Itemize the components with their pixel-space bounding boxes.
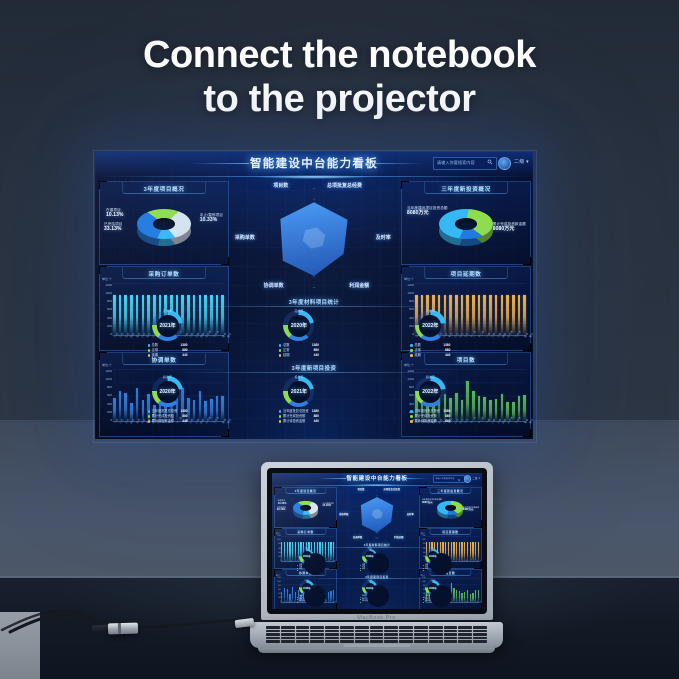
x-tick: 累计 xyxy=(480,601,482,607)
panel-donut_right[interactable]: 三年度新投资概况当年度建设项目投资总额8080万元累计完成投资款金额8080万元 xyxy=(419,487,482,528)
legend-row: 延期440 xyxy=(410,353,450,358)
legend-row: 累计待投资金额440 xyxy=(410,419,450,424)
y-tick: 400 xyxy=(278,553,280,554)
gauges-bottom-title-rule xyxy=(174,372,454,373)
legend-dot xyxy=(410,354,413,357)
y-tick: 1000 xyxy=(105,291,112,295)
legend-name: 累计待投资金额 xyxy=(414,419,445,424)
dashboard-title: 智能建设中台能力看板 xyxy=(250,155,378,171)
y-tick: 600 xyxy=(278,549,280,550)
key[interactable] xyxy=(473,626,487,629)
x-tick: 累计 xyxy=(480,560,482,566)
key[interactable] xyxy=(429,637,443,640)
legend-value: 440 xyxy=(314,353,319,358)
gauges-top-title-rule xyxy=(310,547,444,548)
panel-donut_left-label: 已完结项目33.13% xyxy=(104,222,122,231)
key[interactable] xyxy=(429,630,443,633)
headline-line-1: Connect the notebook xyxy=(0,33,679,77)
gauges-bottom-title: 3年度新项目投资 xyxy=(95,364,533,372)
laptop-screen[interactable]: 智能建设中台能力看板请输入你要搜索内容⚲二级 ▾3年度项目概况在建项目10.13… xyxy=(272,473,482,609)
key[interactable] xyxy=(340,637,354,640)
gauges-top-ring: 2020年完成率 xyxy=(362,549,377,564)
key[interactable] xyxy=(370,626,384,629)
x-tick: 全年 xyxy=(477,560,482,566)
gauges-top-legend: 总数1380正常880延期440 xyxy=(410,343,450,358)
legend-value: 440 xyxy=(314,419,319,424)
gauge-year: 2022年 xyxy=(415,310,446,341)
key[interactable] xyxy=(458,637,472,640)
key[interactable] xyxy=(384,626,398,629)
radar-axis-label: 采购单数 xyxy=(339,512,349,516)
legend-name: 累计待投资金额 xyxy=(283,419,314,424)
key[interactable] xyxy=(414,633,428,636)
key[interactable] xyxy=(310,630,324,633)
y-tick: 200 xyxy=(107,324,112,328)
gauge-year: 2020年 xyxy=(299,580,314,595)
legend-dot xyxy=(410,410,413,413)
label-value: 10.13% xyxy=(106,213,124,218)
radar-axis-label: 总项批复总经费 xyxy=(327,182,362,189)
key[interactable] xyxy=(325,637,339,640)
panel-donut_right-label: 当年度建设项目投资总额8080万元 xyxy=(422,499,442,503)
panel-donut_left[interactable]: 3年度项目概况在建项目10.13%已完结项目33.13%中止/暂停项目10.33… xyxy=(99,181,229,265)
panel-donut_left-donut-hole xyxy=(153,218,175,230)
y-tick: 0 xyxy=(110,332,112,336)
usb-c-adapter xyxy=(108,623,138,635)
key[interactable] xyxy=(340,640,354,643)
gauge-year: 2021年 xyxy=(283,376,314,407)
y-tick: 1000 xyxy=(407,291,414,295)
legend-dot xyxy=(279,415,282,418)
key[interactable] xyxy=(414,640,428,643)
key[interactable] xyxy=(444,626,458,629)
legend-name: 延期 xyxy=(152,353,183,358)
key[interactable] xyxy=(355,626,369,629)
gauges-bottom-legend: 当年度批复总投资1380累计完成投资额880累计待投资金额440 xyxy=(279,409,319,424)
gauges-bottom-gauge[interactable]: 2022年投资率当年度批复总投资1380累计完成投资额880累计待投资金额440 xyxy=(410,376,450,424)
search-input[interactable]: 请输入你要搜索内容⚲ xyxy=(433,475,465,482)
key[interactable] xyxy=(355,640,369,643)
y-tick: 1200 xyxy=(277,536,280,537)
title-glow xyxy=(254,175,374,179)
legend-dot xyxy=(410,415,413,418)
gauge-year: 2022年 xyxy=(415,376,446,407)
dashboard-projected: 智能建设中台能力看板请输入你要搜索内容⚲二级 ▾3年度项目概况在建项目10.13… xyxy=(95,152,533,439)
key[interactable] xyxy=(414,637,428,640)
axis-unit: 单位:个 xyxy=(102,277,112,281)
panel-donut_left-donut xyxy=(137,209,191,243)
gauges-bottom-ring: 2021年投资率 xyxy=(362,580,377,595)
legend-row: 延期440 xyxy=(148,353,188,358)
y-tick: 1200 xyxy=(105,283,112,287)
key[interactable] xyxy=(325,626,339,629)
key[interactable] xyxy=(399,630,413,633)
key[interactable] xyxy=(473,630,487,633)
radar-axis-label: 项目数 xyxy=(273,182,288,189)
key[interactable] xyxy=(429,640,443,643)
y-tick: 200 xyxy=(278,557,280,558)
key[interactable] xyxy=(325,633,339,636)
key[interactable] xyxy=(325,640,339,643)
gauges-bottom-legend: 当年度批复总投资1380累计完成投资额880累计待投资金额440 xyxy=(148,409,188,424)
projected-screen: 智能建设中台能力看板请输入你要搜索内容⚲二级 ▾3年度项目概况在建项目10.13… xyxy=(95,152,533,439)
panel-title: 3年度项目概况 xyxy=(100,185,228,193)
key[interactable] xyxy=(384,633,398,636)
key[interactable] xyxy=(399,633,413,636)
radar-axis-label: 协调单数 xyxy=(264,282,284,289)
panel-title: 3年度项目概况 xyxy=(275,489,336,493)
gauges-top-legend: 总数1380正常880延期440 xyxy=(148,343,188,358)
key[interactable] xyxy=(310,633,324,636)
key[interactable] xyxy=(429,626,443,629)
y-tick: 400 xyxy=(107,316,112,320)
radar-axis-label: 及时率 xyxy=(376,234,391,241)
y-tick: 0 xyxy=(110,418,112,422)
legend-dot xyxy=(148,410,151,413)
label-value: 10.33% xyxy=(200,218,223,223)
panel-title: 三年度新投资概况 xyxy=(402,185,530,193)
key[interactable] xyxy=(473,640,487,643)
legend-dot xyxy=(148,344,151,347)
gauges-top-title: 3年度材料项目统计 xyxy=(95,298,533,306)
radar-axis-label: 总项批复总经费 xyxy=(383,487,400,491)
y-axis: 120010008006004002000 xyxy=(276,536,281,561)
y-tick: 1000 xyxy=(105,377,112,381)
key[interactable] xyxy=(370,637,384,640)
legend-dot xyxy=(148,415,151,418)
key[interactable] xyxy=(444,633,458,636)
gauges-bottom-ring: 2021年投资率 xyxy=(283,376,314,407)
title-wing-left xyxy=(191,163,249,164)
y-axis: 120010008006004002000 xyxy=(102,369,112,422)
legend-dot xyxy=(279,344,282,347)
search-placeholder: 请输入你要搜索内容 xyxy=(435,477,454,480)
gauge-year: 2020年 xyxy=(152,376,183,407)
legend-dot xyxy=(279,354,282,357)
page-title: Connect the notebook to the projector xyxy=(0,33,679,121)
gauge-year: 2021年 xyxy=(299,549,314,564)
gauge-year: 2021年 xyxy=(362,580,377,595)
panel-title: 三年度新投资概况 xyxy=(420,489,481,493)
panel-donut_left[interactable]: 3年度项目概况在建项目10.13%已完结项目33.13%中止/暂停项目10.33… xyxy=(274,487,337,528)
y-tick: 600 xyxy=(107,307,112,311)
gauges-top-ring: 2022年完成率 xyxy=(415,310,446,341)
account-label[interactable]: 二级 ▾ xyxy=(514,158,529,165)
key[interactable] xyxy=(355,633,369,636)
key[interactable] xyxy=(355,630,369,633)
label-value: 33.13% xyxy=(104,227,122,232)
key[interactable] xyxy=(384,630,398,633)
legend-row: 累计待投资金额440 xyxy=(148,419,188,424)
laptop-trackpad[interactable] xyxy=(344,644,410,647)
label-value: 8080万元 xyxy=(422,502,442,504)
gauges-top-ring: 2021年完成率 xyxy=(299,549,314,564)
key[interactable] xyxy=(429,633,443,636)
gauge-year: 2022年 xyxy=(425,549,440,564)
gauges-bottom-ring: 2022年投资率 xyxy=(425,580,440,595)
legend-dot xyxy=(148,420,151,423)
radar-axis-label: 及时率 xyxy=(407,512,414,516)
gauges-top-gauge[interactable]: 2020年完成率总数1380正常880延期440 xyxy=(279,310,319,358)
user-avatar[interactable] xyxy=(498,157,511,170)
radar-axis-label: 项目数 xyxy=(357,487,364,491)
legend-dot xyxy=(279,410,282,413)
radar-chart: 项目数总项批复总经费及时率利润金额协调单数采购单数 xyxy=(348,489,406,539)
key[interactable] xyxy=(399,640,413,643)
key[interactable] xyxy=(458,633,472,636)
key[interactable] xyxy=(414,626,428,629)
y-tick: 600 xyxy=(107,393,112,397)
legend-dot xyxy=(148,354,151,357)
legend-name: 延期 xyxy=(414,353,445,358)
panel-donut_right-label: 当年度建设项目投资总额8080万元 xyxy=(407,206,448,215)
label-value: 8080万元 xyxy=(493,227,526,232)
legend-value: 440 xyxy=(445,353,450,358)
panel-donut_left-label: 已完结项目33.13% xyxy=(277,507,286,511)
key[interactable] xyxy=(458,640,472,643)
legend-value: 440 xyxy=(182,353,187,358)
gauges-top-gauge[interactable]: 2021年完成率总数1380正常880延期440 xyxy=(297,549,316,572)
y-axis: 120010008006004002000 xyxy=(102,283,112,336)
panel-donut_left-label: 在建项目10.13% xyxy=(278,500,287,504)
y-tick: 1200 xyxy=(407,283,414,287)
legend-dot xyxy=(410,420,413,423)
gauges-top-title-rule xyxy=(174,306,454,307)
axis-unit: 单位:个 xyxy=(421,533,426,535)
gauges-top-gauge[interactable]: 2020年完成率总数1380正常880延期440 xyxy=(360,549,379,572)
gauges-top-ring: 2021年完成率 xyxy=(152,310,183,341)
key[interactable] xyxy=(458,630,472,633)
key[interactable] xyxy=(325,630,339,633)
key[interactable] xyxy=(340,633,354,636)
key[interactable] xyxy=(399,626,413,629)
key[interactable] xyxy=(370,633,384,636)
bar[interactable] xyxy=(199,391,202,422)
key[interactable] xyxy=(340,630,354,633)
title-glow xyxy=(348,484,406,486)
headline-line-2: to the projector xyxy=(0,77,679,121)
search-placeholder: 请输入你要搜索内容 xyxy=(437,160,475,166)
key[interactable] xyxy=(310,637,324,640)
gauge-year: 2020年 xyxy=(362,549,377,564)
axis-unit: 单位:个 xyxy=(404,277,414,281)
gauge-year: 2020年 xyxy=(283,310,314,341)
legend-dot xyxy=(279,349,282,352)
gauges-bottom-ring: 2020年投资率 xyxy=(152,376,183,407)
key[interactable] xyxy=(444,640,458,643)
panel-donut_right-label: 累计完成投资款金额8080万元 xyxy=(463,507,479,511)
panel-donut_left-label: 中止/暂停项目10.33% xyxy=(322,503,334,507)
account-label[interactable]: 二级 ▾ xyxy=(472,476,480,480)
gauges-top-legend: 总数1380正常880延期440 xyxy=(279,343,319,358)
dashboard-title: 智能建设中台能力看板 xyxy=(346,474,407,482)
panel-donut_left-label: 中止/暂停项目10.33% xyxy=(200,213,223,222)
legend-row: 延期440 xyxy=(279,353,319,358)
gauges-bottom-gauge[interactable]: 2021年投资率当年度批复总投资1380累计完成投资额880累计待投资金额440 xyxy=(279,376,319,424)
key[interactable] xyxy=(444,637,458,640)
x-tick: 全年 xyxy=(477,601,482,607)
key[interactable] xyxy=(384,640,398,643)
key[interactable] xyxy=(370,630,384,633)
legend-name: 延期 xyxy=(283,353,314,358)
panel-donut_left-donut xyxy=(293,501,319,517)
legend-value: 440 xyxy=(445,419,450,424)
gauges-top-gauge[interactable]: 2021年完成率总数1380正常880延期440 xyxy=(148,310,188,358)
label-value: 33.13% xyxy=(277,509,286,511)
panel-donut_right-donut-hole xyxy=(455,218,477,230)
key[interactable] xyxy=(355,637,369,640)
gauges-top-ring: 2020年完成率 xyxy=(283,310,314,341)
radar-axis-label: 利润金额 xyxy=(394,535,404,539)
label-value: 8080万元 xyxy=(463,509,479,511)
y-tick: 200 xyxy=(107,410,112,414)
y-tick: 1200 xyxy=(422,536,425,537)
y-tick: 1000 xyxy=(277,540,280,541)
gauges-bottom-gauge[interactable]: 2021年投资率当年度批复总投资1380累计完成投资额880累计待投资金额440 xyxy=(360,580,379,603)
gauges-bottom-legend: 当年度批复总投资1380累计完成投资额880累计待投资金额440 xyxy=(410,409,450,424)
legend-row: 累计待投资金额440 xyxy=(279,419,319,424)
legend-value: 440 xyxy=(182,419,187,424)
gauge-year: 2022年 xyxy=(425,580,440,595)
label-value: 10.33% xyxy=(322,505,334,507)
hdmi-cable xyxy=(0,560,300,679)
key[interactable] xyxy=(473,637,487,640)
legend-dot xyxy=(410,344,413,347)
key[interactable] xyxy=(399,637,413,640)
radar-axis-label: 协调单数 xyxy=(353,535,363,539)
axis-unit: 单位:个 xyxy=(276,533,281,535)
gauges-top-ring: 2022年完成率 xyxy=(425,549,440,564)
gauges-bottom-ring: 2020年投资率 xyxy=(299,580,314,595)
key[interactable] xyxy=(384,637,398,640)
label-value: 10.13% xyxy=(278,503,287,505)
legend-dot xyxy=(279,420,282,423)
key[interactable] xyxy=(370,640,384,643)
key[interactable] xyxy=(458,626,472,629)
radar-axis-label: 利润金额 xyxy=(349,282,369,289)
gauges-bottom-gauge[interactable]: 2020年投资率当年度批复总投资1380累计完成投资额880累计待投资金额440 xyxy=(297,580,316,603)
radar-chart: 项目数总项批复总经费及时率利润金额协调单数采购单数 xyxy=(254,186,374,290)
radar-axis-label: 采购单数 xyxy=(235,234,255,241)
y-tick: 800 xyxy=(107,385,112,389)
key[interactable] xyxy=(444,630,458,633)
y-tick: 400 xyxy=(107,402,112,406)
title-wing-left xyxy=(318,478,346,479)
y-tick: 1000 xyxy=(422,540,425,541)
search-icon[interactable]: ⚲ xyxy=(486,158,496,168)
key[interactable] xyxy=(310,626,324,629)
bar[interactable] xyxy=(466,381,469,422)
title-wing-right xyxy=(401,478,429,479)
panel-donut_right[interactable]: 三年度新投资概况当年度建设项目投资总额8080万元累计完成投资款金额8080万元 xyxy=(401,181,531,265)
panel-donut_left-label: 在建项目10.13% xyxy=(106,208,124,217)
gauges-bottom-gauge[interactable]: 2020年投资率当年度批复总投资1380累计完成投资额880累计待投资金额440 xyxy=(148,376,188,424)
gauge-year: 2021年 xyxy=(152,310,183,341)
legend-dot xyxy=(148,349,151,352)
title-wing-right xyxy=(365,163,423,164)
key[interactable] xyxy=(340,626,354,629)
dashboard-laptop: 智能建设中台能力看板请输入你要搜索内容⚲二级 ▾3年度项目概况在建项目10.13… xyxy=(272,473,482,609)
key[interactable] xyxy=(310,640,324,643)
legend-dot xyxy=(410,349,413,352)
legend-name: 累计待投资金额 xyxy=(152,419,183,424)
label-value: 8080万元 xyxy=(407,211,448,216)
gauges-bottom-gauge[interactable]: 2022年投资率当年度批复总投资1380累计完成投资额880累计待投资金额440 xyxy=(423,580,442,603)
scene: Connect the notebook to the projector 智能… xyxy=(0,0,679,679)
adapter-band xyxy=(118,623,121,634)
panel-donut_right-label: 累计完成投资款金额8080万元 xyxy=(493,222,526,231)
key[interactable] xyxy=(414,630,428,633)
key[interactable] xyxy=(473,633,487,636)
gauges-top-gauge[interactable]: 2022年完成率总数1380正常880延期440 xyxy=(423,549,442,572)
gauges-top-gauge[interactable]: 2022年完成率总数1380正常880延期440 xyxy=(410,310,450,358)
search-input[interactable]: 请输入你要搜索内容⚲ xyxy=(433,157,497,170)
gauges-bottom-title-rule xyxy=(310,578,444,579)
gauges-bottom-ring: 2022年投资率 xyxy=(415,376,446,407)
